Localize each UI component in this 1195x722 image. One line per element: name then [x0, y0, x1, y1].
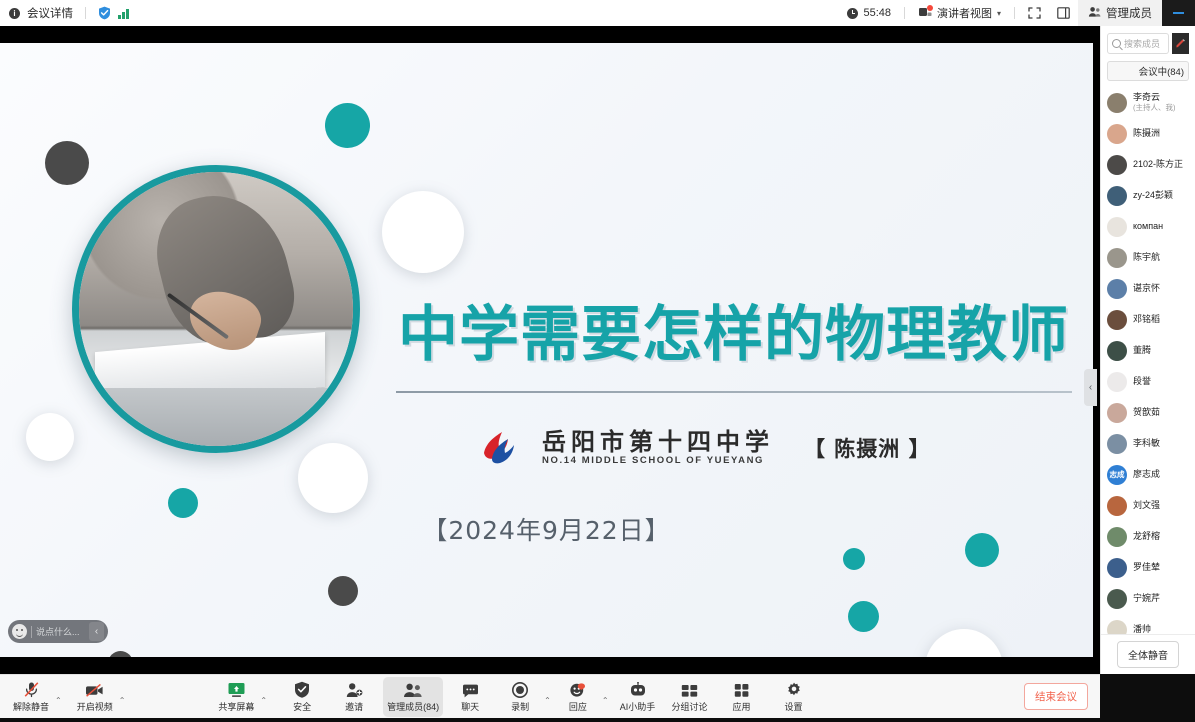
participant-name: 廖志成	[1133, 469, 1160, 479]
chat-button[interactable]: 聊天	[447, 677, 493, 717]
avatar	[1107, 403, 1127, 423]
list-item[interactable]: 贺歆茹	[1101, 397, 1195, 428]
avatar	[1107, 434, 1127, 454]
speaker-view-icon	[918, 6, 932, 20]
invite-button[interactable]: 邀请	[331, 677, 377, 717]
meeting-window: i 会议详情 55:48 演讲者视图 ▾	[0, 0, 1195, 722]
divider	[85, 7, 86, 19]
avatar	[1107, 124, 1127, 144]
participant-name-block: 李奇云 (主持人、我)	[1133, 92, 1176, 113]
avatar	[1107, 248, 1127, 268]
list-item[interactable]: 邓铭稻	[1101, 304, 1195, 335]
notification-dot	[927, 5, 933, 11]
photo-desk	[79, 388, 353, 446]
list-item[interactable]: 潘帅	[1101, 614, 1195, 634]
chevron-up-icon[interactable]: ⌃	[119, 696, 126, 705]
chevron-up-icon[interactable]: ⌃	[55, 696, 62, 705]
participant-name: 陈摄洲	[1133, 128, 1160, 138]
list-item[interactable]: 李科敏	[1101, 428, 1195, 459]
deco-circle	[325, 103, 370, 148]
slide-date: 【2024年9月22日】	[0, 511, 1093, 547]
minimize-button[interactable]	[1162, 0, 1195, 26]
view-mode-selector[interactable]: 演讲者视图 ▾	[910, 5, 1009, 21]
list-item[interactable]: 董腾	[1101, 335, 1195, 366]
deco-circle	[382, 191, 464, 273]
start-video-button[interactable]: 开启视频	[72, 677, 118, 717]
breakout-rooms-label: 分组讨论	[672, 700, 708, 713]
breakout-rooms-button[interactable]: 分组讨论	[667, 677, 713, 717]
fullscreen-button[interactable]	[1020, 7, 1049, 19]
avatar	[1107, 620, 1127, 635]
participant-name: 陈宇航	[1133, 252, 1160, 262]
deco-circle	[925, 629, 1003, 657]
avatar: 志成	[1107, 465, 1127, 485]
chevron-up-icon[interactable]: ⌃	[260, 696, 267, 705]
chevron-up-icon[interactable]: ⌃	[602, 696, 609, 705]
school-name-cn: 岳阳市第十四中学	[542, 430, 774, 455]
smiley-icon[interactable]	[12, 624, 27, 639]
fullscreen-icon	[1028, 7, 1041, 19]
list-item[interactable]: 宁婉芹	[1101, 583, 1195, 614]
avatar	[1107, 186, 1127, 206]
security-button[interactable]: 安全	[279, 677, 325, 717]
record-group: 录制 ⌃	[497, 677, 551, 717]
school-flame-logo	[478, 429, 526, 467]
list-item[interactable]: 李奇云 (主持人、我)	[1101, 87, 1195, 118]
video-stage: 中学需要怎样的物理教师 岳阳市第十四中学 NO.14 MIDDLE SCHOOL…	[0, 26, 1100, 674]
avatar	[1107, 527, 1127, 547]
participant-name: 潘帅	[1133, 624, 1151, 634]
list-item[interactable]: 2102-陈方正	[1101, 149, 1195, 180]
tab-in-meeting[interactable]: 会议中(84)	[1107, 61, 1189, 81]
participant-name: 李科敏	[1133, 438, 1160, 448]
manage-participants-button[interactable]: 管理成员	[1078, 0, 1162, 26]
shield-icon	[294, 681, 310, 698]
list-item[interactable]: 陈摄洲	[1101, 118, 1195, 149]
avatar	[1107, 217, 1127, 237]
window-bottom-edge	[0, 718, 1195, 722]
school-name-block: 岳阳市第十四中学 NO.14 MIDDLE SCHOOL OF YUEYANG	[542, 430, 774, 466]
panel-footer: 全体静音	[1101, 634, 1195, 674]
info-icon[interactable]: i	[9, 8, 20, 19]
slide-speaker: 【 陈摄洲 】	[804, 433, 931, 463]
record-label: 录制	[511, 700, 529, 713]
list-item[interactable]: 志成 廖志成	[1101, 459, 1195, 490]
school-name-en: NO.14 MIDDLE SCHOOL OF YUEYANG	[542, 455, 774, 466]
people-icon	[403, 681, 423, 698]
share-screen-group: 共享屏幕 ⌃	[213, 677, 267, 717]
avatar	[1107, 372, 1127, 392]
gear-icon	[786, 681, 802, 698]
deco-circle	[848, 601, 879, 632]
search-input[interactable]: 搜索成员	[1107, 33, 1169, 54]
list-item[interactable]: zy-24彭颖	[1101, 180, 1195, 211]
participant-list[interactable]: 李奇云 (主持人、我) 陈摄洲 2102-陈方正 zy-24彭颖 компан	[1101, 85, 1195, 634]
camera-off-icon	[85, 681, 104, 698]
manage-participants-tool[interactable]: 管理成员(84)	[383, 677, 443, 717]
layout-icon	[1057, 7, 1070, 19]
shield-check-icon[interactable]	[98, 6, 111, 20]
participant-name: 李奇云	[1133, 92, 1176, 102]
avatar-initials: 志成	[1107, 465, 1127, 485]
avatar	[1107, 93, 1127, 113]
participant-name: 罗佳辇	[1133, 562, 1160, 572]
search-placeholder: 搜索成员	[1124, 37, 1160, 50]
share-screen-label: 共享屏幕	[218, 700, 254, 713]
list-item[interactable]: 谌京怀	[1101, 273, 1195, 304]
tab-row: 会议中(84)	[1101, 58, 1195, 85]
list-item[interactable]: 段誉	[1101, 366, 1195, 397]
unmute-label: 解除静音	[13, 700, 49, 713]
title-bar-right: 55:48 演讲者视图 ▾	[839, 0, 1195, 26]
mute-all-button[interactable]: 全体静音	[1117, 641, 1179, 668]
divider	[31, 626, 32, 638]
reaction-group: 回应 ⌃	[555, 677, 609, 717]
participant-name: 刘文强	[1133, 500, 1160, 510]
settings-label: 设置	[785, 700, 803, 713]
deco-circle	[298, 443, 368, 513]
reaction-button[interactable]: 回应	[555, 677, 601, 717]
ai-assistant-button[interactable]: AI小助手	[615, 677, 661, 717]
security-label: 安全	[293, 700, 311, 713]
avatar	[1107, 341, 1127, 361]
chevron-down-icon: ▾	[997, 9, 1001, 18]
participants-panel: 搜索成员 会议中(84) 李奇云 (主持人、我) 陈摄洲	[1100, 26, 1195, 674]
ai-assistant-icon	[629, 681, 647, 698]
avatar	[1107, 589, 1127, 609]
chat-bubble-icon	[462, 681, 479, 698]
meeting-timer: 55:48	[839, 7, 899, 19]
meeting-toolbar: 解除静音 ⌃ 开启视频 ⌃ 共享屏幕 ⌃	[0, 674, 1100, 718]
panel-collapse-handle[interactable]: ‹	[1084, 369, 1097, 406]
deco-circle	[843, 548, 865, 570]
title-bar-left: i 会议详情	[0, 5, 129, 21]
list-item[interactable]: 陈宇航	[1101, 242, 1195, 273]
deco-circle	[328, 576, 358, 606]
title-divider	[396, 391, 1072, 393]
shared-slide: 中学需要怎样的物理教师 岳阳市第十四中学 NO.14 MIDDLE SCHOOL…	[0, 43, 1093, 657]
chat-label: 聊天	[461, 700, 479, 713]
avatar	[1107, 558, 1127, 578]
avatar	[1107, 310, 1127, 330]
slide-photo	[72, 165, 360, 453]
timer-value: 55:48	[863, 7, 891, 19]
tab-in-meeting-label: 会议中(84)	[1139, 64, 1184, 78]
avatar	[1107, 155, 1127, 175]
chevron-left-icon[interactable]: ‹	[89, 622, 104, 641]
manage-participants-label: 管理成员	[1106, 5, 1152, 21]
layout-button[interactable]	[1049, 7, 1078, 19]
divider	[1014, 7, 1015, 19]
chevron-up-icon[interactable]: ⌃	[544, 696, 551, 705]
participant-name: 段誉	[1133, 376, 1151, 386]
invite-person-icon	[346, 681, 363, 698]
record-circle-icon	[512, 681, 528, 698]
participant-name: 宁婉芹	[1133, 593, 1160, 603]
video-control-group: 开启视频 ⌃	[72, 677, 126, 717]
signal-bars-icon[interactable]	[118, 8, 129, 19]
unmute-button[interactable]: 解除静音	[8, 677, 54, 717]
invite-label: 邀请	[345, 700, 363, 713]
reaction-icon	[569, 681, 586, 698]
participant-role: (主持人、我)	[1133, 102, 1176, 113]
share-screen-icon	[227, 681, 246, 698]
search-icon	[1112, 39, 1121, 48]
end-meeting-button[interactable]: 结束会议	[1024, 683, 1088, 710]
participant-name: компан	[1133, 221, 1163, 231]
school-brand: 岳阳市第十四中学 NO.14 MIDDLE SCHOOL OF YUEYANG …	[478, 429, 931, 467]
settings-button[interactable]: 设置	[771, 677, 817, 717]
apps-button[interactable]: 应用	[719, 677, 765, 717]
breakout-rooms-icon	[681, 681, 698, 698]
view-mode-label: 演讲者视图	[937, 5, 992, 21]
quick-chat-input[interactable]: 说点什么... ‹	[8, 620, 108, 643]
deco-circle	[108, 651, 133, 657]
participant-name: 谌京怀	[1133, 283, 1160, 293]
deco-circle	[26, 413, 74, 461]
participant-name: 2102-陈方正	[1133, 159, 1183, 169]
divider	[904, 7, 905, 19]
participant-name: 邓铭稻	[1133, 314, 1160, 324]
list-item[interactable]: 罗佳辇	[1101, 552, 1195, 583]
share-screen-button[interactable]: 共享屏幕	[213, 677, 259, 717]
meeting-details-label[interactable]: 会议详情	[27, 5, 73, 21]
list-item[interactable]: 刘文强	[1101, 490, 1195, 521]
start-video-label: 开启视频	[77, 700, 113, 713]
apps-label: 应用	[733, 700, 751, 713]
mic-muted-icon	[23, 681, 40, 698]
pen-icon[interactable]	[1172, 33, 1189, 54]
avatar	[1107, 279, 1127, 299]
slide-title: 中学需要怎样的物理教师	[398, 305, 1070, 365]
reaction-label: 回应	[569, 700, 587, 713]
list-item[interactable]: компан	[1101, 211, 1195, 242]
record-button[interactable]: 录制	[497, 677, 543, 717]
participant-name: 贺歆茹	[1133, 407, 1160, 417]
minimize-icon	[1173, 12, 1184, 14]
participant-name: 董腾	[1133, 345, 1151, 355]
list-item[interactable]: 龙舒榕	[1101, 521, 1195, 552]
clock-icon	[847, 8, 858, 19]
search-row: 搜索成员	[1101, 26, 1195, 58]
participant-name: zy-24彭颖	[1133, 190, 1173, 200]
title-bar: i 会议详情 55:48 演讲者视图 ▾	[0, 0, 1195, 26]
photo-image	[79, 172, 353, 446]
people-icon	[1088, 6, 1101, 21]
ai-assistant-label: AI小助手	[620, 700, 656, 713]
apps-grid-icon	[734, 681, 750, 698]
audio-control-group: 解除静音 ⌃	[8, 677, 62, 717]
quick-chat-placeholder: 说点什么...	[36, 625, 89, 638]
manage-participants-tool-label: 管理成员(84)	[387, 700, 439, 713]
avatar	[1107, 496, 1127, 516]
participant-name: 龙舒榕	[1133, 531, 1160, 541]
